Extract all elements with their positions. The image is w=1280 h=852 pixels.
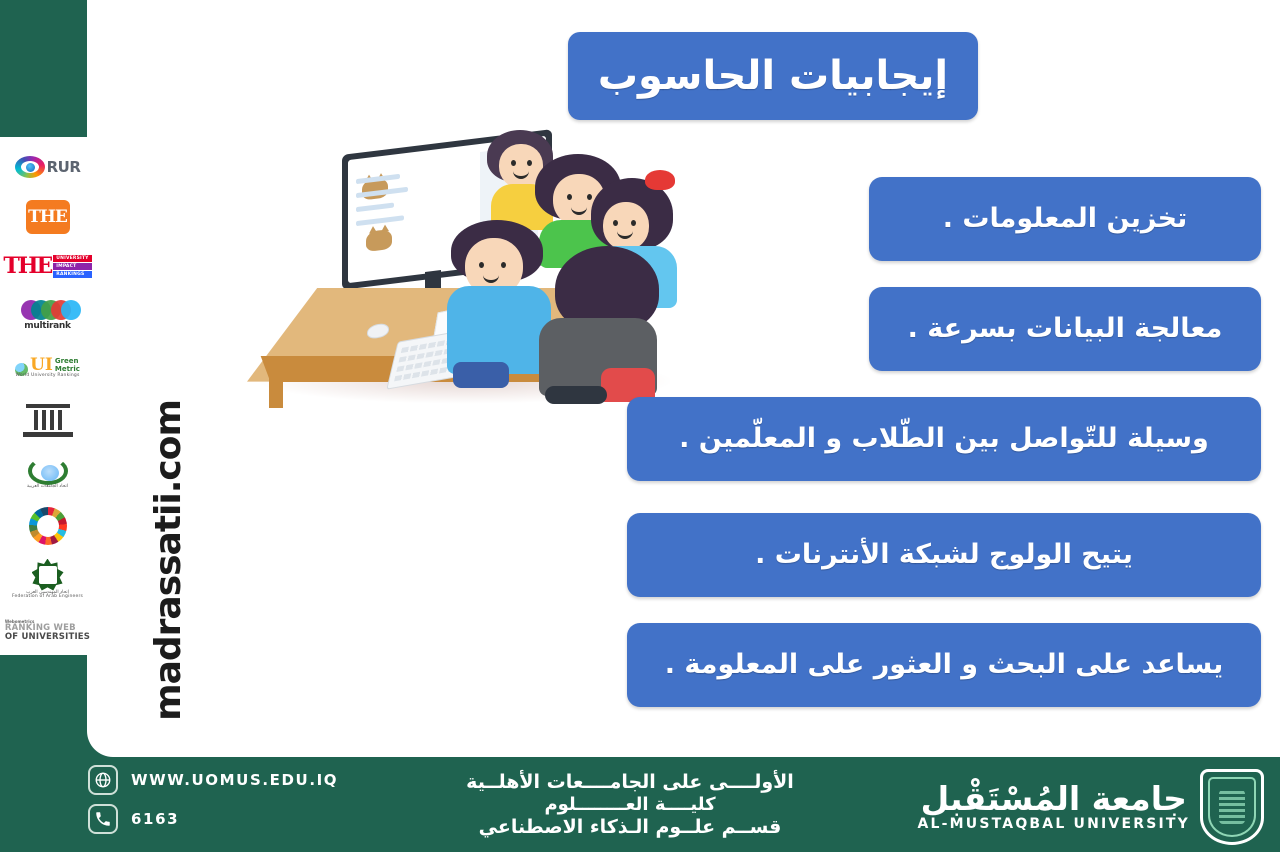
impact-line-1: UNIVERSITY xyxy=(53,255,91,262)
rur-logo: RUR xyxy=(5,143,91,191)
ui-greenmetric-logo: UI Green Metric World University Ranking… xyxy=(5,342,91,395)
wreath-icon xyxy=(28,457,68,485)
rur-eye-icon xyxy=(15,156,45,178)
accreditation-rail: RUR THE THE UNIVERSITY IMPACT RANKINGS m… xyxy=(0,137,95,655)
the-label: THE xyxy=(28,207,67,227)
advantage-item-1[interactable]: تخزين المعلومات . xyxy=(869,177,1261,261)
ministry-columns-logo xyxy=(5,397,91,445)
advantage-text-5: يساعد على البحث و العثور على المعلومة . xyxy=(665,649,1224,680)
advantage-text-2: معالجة البيانات بسرعة . xyxy=(908,313,1223,344)
impact-line-3: RANKINGS xyxy=(53,271,91,278)
federation-arab-engineers-logo: اتحاد المهندسين العرب Federation of Arab… xyxy=(5,552,91,607)
advantage-item-3[interactable]: وسيلة للتّواصل بين الطّلاب و المعلّمين . xyxy=(627,397,1261,481)
arab-universities-caption: اتحاد الجامعات العربية xyxy=(27,485,68,490)
advantage-text-3: وسيلة للتّواصل بين الطّلاب و المعلّمين . xyxy=(679,423,1209,454)
globe-icon xyxy=(88,765,118,795)
website-row[interactable]: WWW.UOMUS.EDU.IQ xyxy=(88,765,338,795)
slogan-line-2: كليــــة العــــــــلوم xyxy=(420,794,840,816)
page-footer: WWW.UOMUS.EDU.IQ 6163 الأولــــى على الج… xyxy=(0,757,1280,852)
u-multirank-logo: multirank xyxy=(5,292,91,340)
phone-label: 6163 xyxy=(131,810,179,828)
advantage-text-1: تخزين المعلومات . xyxy=(943,203,1188,234)
university-name-en: AL-MUSTAQBAL UNIVERSITY xyxy=(917,816,1190,832)
slogan-line-3: قســم علــوم الـذكاء الاصطناعي xyxy=(420,816,840,839)
watermark: madrassatii.com xyxy=(148,400,189,721)
the-impact-rankings-logo: THE UNIVERSITY IMPACT RANKINGS xyxy=(5,242,91,290)
slogan-line-1: الأولــــى على الجامــــعات الأهلــية xyxy=(420,771,840,794)
the-badge-icon: THE xyxy=(26,200,70,234)
advantage-text-4: يتيح الولوج لشبكة الأنترنات . xyxy=(755,539,1133,570)
webometrics-line-2: OF UNIVERSITIES xyxy=(5,633,90,642)
advantage-item-2[interactable]: معالجة البيانات بسرعة . xyxy=(869,287,1261,371)
columns-icon xyxy=(23,404,73,437)
sdg-wheel-icon xyxy=(29,507,67,545)
university-branding: جامعة المُسْتَقْبل AL-MUSTAQBAL UNIVERSI… xyxy=(917,769,1264,845)
contact-block: WWW.UOMUS.EDU.IQ 6163 xyxy=(88,765,338,834)
arab-engineers-caption-en: Federation of Arab Engineers xyxy=(12,595,83,600)
multirank-arcs-icon xyxy=(21,300,71,320)
association-arab-universities-logo: اتحاد الجامعات العربية xyxy=(5,447,91,500)
impact-line-2: IMPACT xyxy=(53,263,91,270)
phone-icon xyxy=(88,804,118,834)
advantage-item-5[interactable]: يساعد على البحث و العثور على المعلومة . xyxy=(627,623,1261,707)
website-label: WWW.UOMUS.EDU.IQ xyxy=(131,771,338,789)
sdg-wheel-logo xyxy=(5,502,91,550)
university-name-ar: جامعة المُسْتَقْبل xyxy=(917,782,1190,817)
greenmetric-caption: World University Rankings xyxy=(15,374,79,379)
phone-row[interactable]: 6163 xyxy=(88,804,338,834)
faculty-slogan: الأولــــى على الجامــــعات الأهلــية كل… xyxy=(420,771,840,839)
arab-engineers-star-icon xyxy=(32,559,64,591)
greenmetric-ui-label: UI xyxy=(30,358,53,373)
advantages-list: تخزين المعلومات . معالجة البيانات بسرعة … xyxy=(87,0,1280,757)
content-card: إيجابيات الحاسوب xyxy=(87,0,1280,757)
rur-label: RUR xyxy=(47,158,81,176)
the-logo: THE xyxy=(5,193,91,241)
advantage-item-4[interactable]: يتيح الولوج لشبكة الأنترنات . xyxy=(627,513,1261,597)
webometrics-logo: Webometrics RANKING WEB OF UNIVERSITIES xyxy=(5,609,91,651)
university-crest-icon xyxy=(1200,769,1264,845)
multirank-label: multirank xyxy=(24,321,70,331)
the-impact-label: THE xyxy=(3,255,51,277)
